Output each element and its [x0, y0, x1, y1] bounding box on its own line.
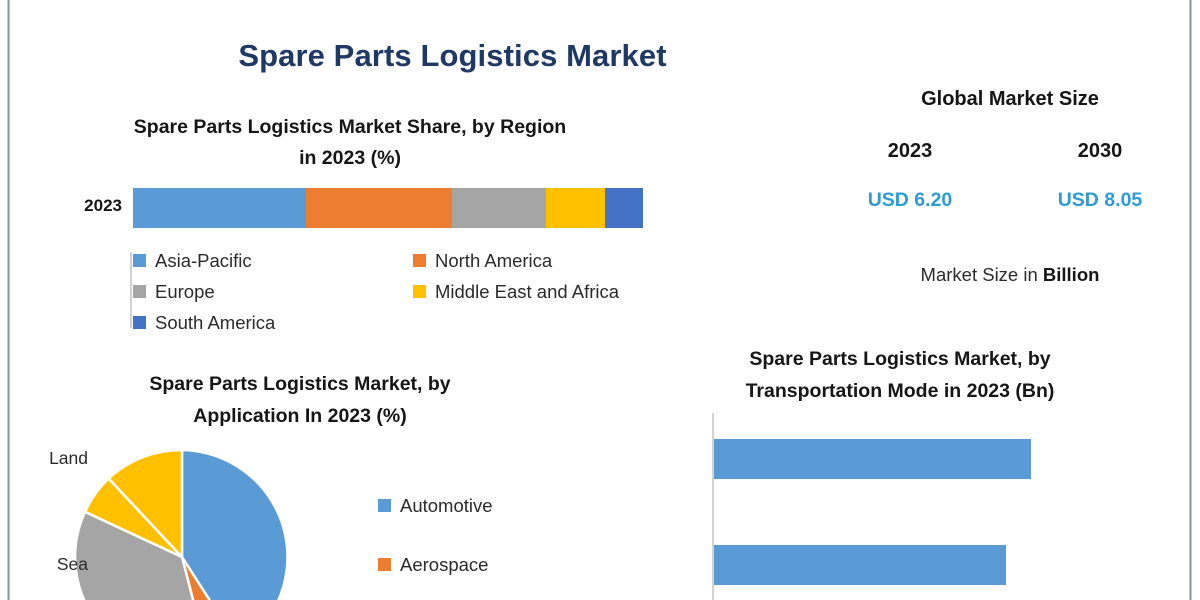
region-segment-asia-pacific[interactable]: [133, 188, 306, 228]
legend-swatch-icon: [378, 499, 391, 512]
market-size-footnote-prefix: Market Size in: [921, 264, 1043, 285]
market-size-year: 2030: [1020, 140, 1180, 163]
region-share-chart: Spare Parts Logistics Market Share, by R…: [0, 100, 700, 340]
region-segment-north-america[interactable]: [306, 188, 451, 228]
region-stacked-bar: [133, 188, 643, 228]
global-market-size-panel: Global Market Size 2023 USD 6.20 2030 US…: [830, 88, 1190, 303]
market-size-year: 2023: [830, 140, 990, 163]
legend-label: North America: [435, 250, 552, 272]
region-chart-legend: Asia-Pacific North America Europe Middle…: [133, 245, 693, 338]
transportation-bar-sea[interactable]: [714, 545, 1006, 585]
legend-label: South America: [155, 312, 275, 334]
global-market-size-heading: Global Market Size: [830, 88, 1190, 111]
transportation-chart-title-line2: Transportation Mode in 2023 (Bn): [630, 375, 1170, 407]
legend-item-europe[interactable]: Europe: [133, 276, 413, 307]
legend-item-north-america[interactable]: North America: [413, 245, 693, 276]
application-chart-title-line1: Spare Parts Logistics Market, by: [20, 368, 580, 400]
market-size-footnote-unit: Billion: [1043, 264, 1100, 285]
region-chart-title: Spare Parts Logistics Market Share, by R…: [20, 112, 680, 174]
pie-svg: [75, 450, 289, 600]
pie-graphic-wrapper: [75, 450, 289, 600]
legend-swatch-icon: [378, 558, 391, 571]
market-size-value: USD 8.05: [1020, 189, 1180, 212]
legend-label: Automotive: [400, 495, 493, 517]
application-pie-chart: Spare Parts Logistics Market, by Applica…: [0, 358, 600, 600]
legend-swatch-icon: [133, 316, 146, 329]
region-segment-middle-east-and-africa[interactable]: [546, 188, 606, 228]
legend-item-asia-pacific[interactable]: Asia-Pacific: [133, 245, 413, 276]
pie-graphic: [75, 450, 289, 600]
region-segment-south-america[interactable]: [605, 188, 643, 228]
legend-item-aerospace[interactable]: Aerospace: [378, 535, 598, 594]
application-chart-title-line2: Application In 2023 (%): [20, 400, 580, 432]
legend-item-middle-east-and-africa[interactable]: Middle East and Africa: [413, 276, 693, 307]
application-chart-legend: Automotive Aerospace: [378, 476, 598, 594]
legend-label: Middle East and Africa: [435, 281, 619, 303]
legend-item-automotive[interactable]: Automotive: [378, 476, 598, 535]
market-size-footnote: Market Size in Billion: [830, 264, 1190, 286]
transportation-label-sea: Sea: [0, 554, 88, 575]
legend-label: Asia-Pacific: [155, 250, 252, 272]
legend-label: Europe: [155, 281, 215, 303]
legend-swatch-icon: [133, 285, 146, 298]
page-title: Spare Parts Logistics Market: [0, 38, 905, 74]
transportation-mode-chart: Spare Parts Logistics Market, by Transpo…: [600, 335, 1200, 600]
region-chart-axis: [130, 252, 132, 328]
region-segment-europe[interactable]: [452, 188, 546, 228]
market-size-column-2023: 2023 USD 6.20: [830, 140, 990, 212]
legend-label: Aerospace: [400, 554, 488, 576]
transportation-bar-land[interactable]: [714, 439, 1031, 479]
legend-swatch-icon: [413, 285, 426, 298]
transportation-chart-title-line1: Spare Parts Logistics Market, by: [630, 343, 1170, 375]
transportation-chart-title: Spare Parts Logistics Market, by Transpo…: [630, 343, 1170, 407]
region-chart-title-line2: in 2023 (%): [20, 143, 680, 174]
legend-swatch-icon: [133, 254, 146, 267]
market-size-column-2030: 2030 USD 8.05: [1020, 140, 1180, 212]
legend-swatch-icon: [413, 254, 426, 267]
region-chart-title-line1: Spare Parts Logistics Market Share, by R…: [20, 112, 680, 143]
pie-slice-automotive[interactable]: [182, 450, 288, 600]
legend-item-south-america[interactable]: South America: [133, 307, 413, 338]
transportation-label-land: Land: [0, 448, 88, 469]
application-chart-title: Spare Parts Logistics Market, by Applica…: [20, 368, 580, 432]
region-category-label: 2023: [46, 196, 122, 216]
market-size-value: USD 6.20: [830, 189, 990, 212]
infographic-canvas: Spare Parts Logistics Market Spare Parts…: [0, 0, 1200, 600]
